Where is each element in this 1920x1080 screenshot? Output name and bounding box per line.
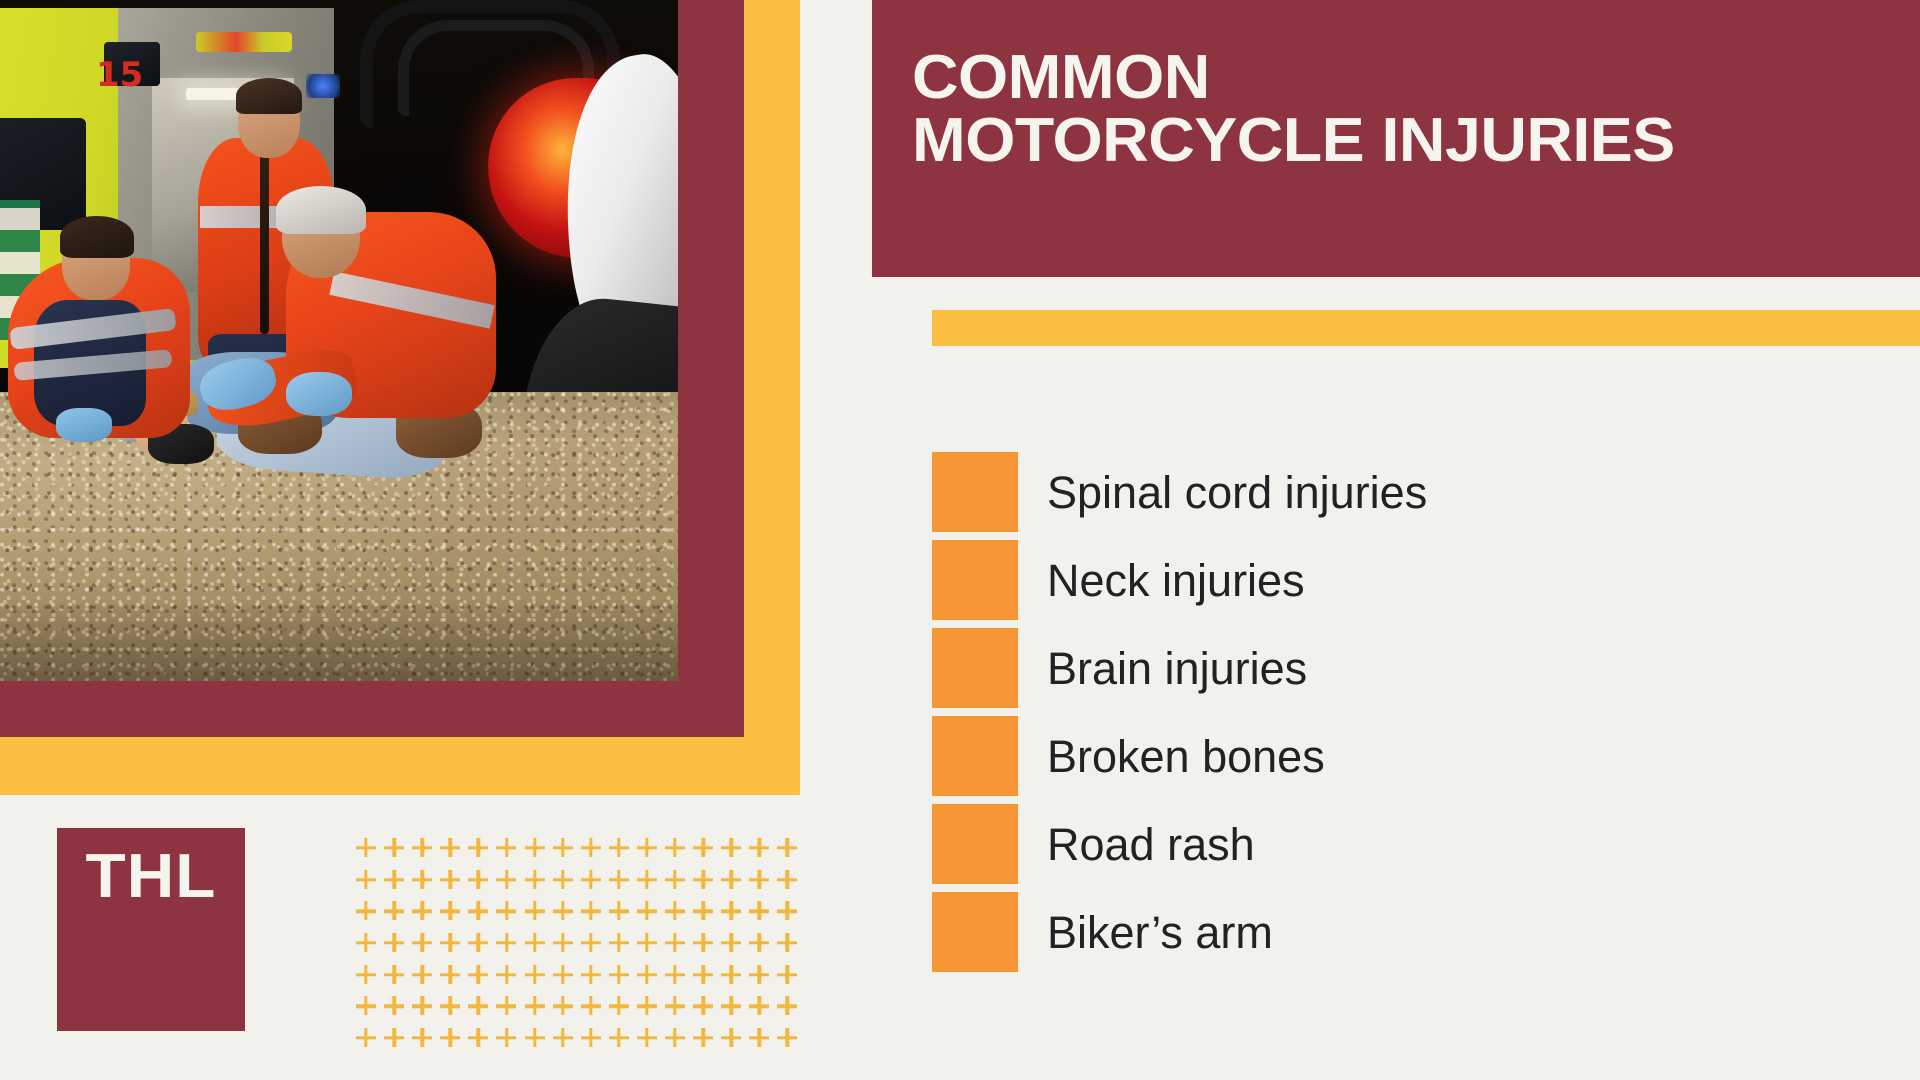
plus-icon — [521, 959, 549, 991]
plus-icon — [745, 832, 773, 864]
list-item: Spinal cord injuries — [932, 448, 1832, 536]
injury-label: Road rash — [1047, 822, 1255, 867]
list-item: Biker’s arm — [932, 888, 1832, 976]
plus-icon — [577, 959, 605, 991]
plus-icon — [352, 895, 380, 927]
plus-icon — [436, 832, 464, 864]
injury-label: Spinal cord injuries — [1047, 470, 1427, 515]
injury-label: Biker’s arm — [1047, 910, 1273, 955]
plus-icon — [717, 864, 745, 896]
list-item: Broken bones — [932, 712, 1832, 800]
photo-ambulance-blue-light — [306, 74, 340, 98]
plus-icon — [380, 959, 408, 991]
page-title: COMMON MOTORCYCLE INJURIES — [912, 46, 1920, 172]
photo-paramedic-kneeling-hair — [60, 216, 134, 258]
plus-icon — [577, 1022, 605, 1054]
plus-icon — [661, 895, 689, 927]
bullet-square-icon — [932, 540, 1018, 620]
plus-icon — [689, 895, 717, 927]
plus-icon — [380, 927, 408, 959]
plus-icon — [605, 927, 633, 959]
bullet-square-icon — [932, 716, 1018, 796]
plus-icon — [661, 927, 689, 959]
bullet-square-icon — [932, 628, 1018, 708]
plus-pattern-row — [352, 959, 802, 991]
plus-icon — [661, 1022, 689, 1054]
plus-icon — [549, 959, 577, 991]
plus-icon — [492, 990, 520, 1022]
plus-icon — [464, 895, 492, 927]
plus-icon — [408, 927, 436, 959]
plus-icon — [633, 832, 661, 864]
plus-icon — [773, 990, 801, 1022]
plus-icon — [549, 927, 577, 959]
plus-icon — [352, 864, 380, 896]
plus-icon — [689, 1022, 717, 1054]
plus-icon — [633, 990, 661, 1022]
plus-icon — [605, 864, 633, 896]
plus-icon — [577, 927, 605, 959]
injury-label: Neck injuries — [1047, 558, 1305, 603]
plus-icon — [773, 832, 801, 864]
photo-ambulance-beacon-bar — [196, 32, 292, 52]
bullet-square-icon — [932, 892, 1018, 972]
plus-icon — [436, 895, 464, 927]
bullet-square-icon — [932, 452, 1018, 532]
plus-icon — [717, 990, 745, 1022]
injury-label: Broken bones — [1047, 734, 1325, 779]
plus-pattern-row — [352, 990, 802, 1022]
plus-icon — [661, 832, 689, 864]
plus-icon — [605, 895, 633, 927]
plus-pattern-decoration — [352, 832, 802, 1054]
plus-icon — [633, 959, 661, 991]
plus-icon — [492, 927, 520, 959]
plus-icon — [633, 927, 661, 959]
plus-icon — [380, 832, 408, 864]
plus-icon — [521, 990, 549, 1022]
plus-icon — [436, 959, 464, 991]
plus-icon — [745, 927, 773, 959]
plus-icon — [661, 990, 689, 1022]
plus-icon — [549, 1022, 577, 1054]
plus-icon — [464, 990, 492, 1022]
plus-icon — [577, 864, 605, 896]
plus-icon — [717, 895, 745, 927]
plus-icon — [773, 927, 801, 959]
bullet-square-icon — [932, 804, 1018, 884]
accident-scene-photo: 15 — [0, 0, 678, 681]
plus-icon — [689, 832, 717, 864]
plus-icon — [380, 895, 408, 927]
plus-pattern-row — [352, 895, 802, 927]
photo-composition: 15 — [0, 0, 805, 800]
plus-pattern-row — [352, 1022, 802, 1054]
plus-icon — [352, 927, 380, 959]
plus-icon — [717, 959, 745, 991]
plus-icon — [577, 990, 605, 1022]
plus-icon — [352, 832, 380, 864]
plus-icon — [492, 1022, 520, 1054]
plus-icon — [661, 959, 689, 991]
photo-paramedic-senior-hair — [276, 186, 366, 234]
plus-icon — [408, 1022, 436, 1054]
plus-icon — [661, 864, 689, 896]
photo-paramedic-senior-glove-right — [286, 372, 352, 416]
plus-icon — [577, 832, 605, 864]
plus-icon — [689, 927, 717, 959]
plus-icon — [408, 832, 436, 864]
plus-icon — [745, 1022, 773, 1054]
plus-icon — [605, 1022, 633, 1054]
plus-icon — [633, 1022, 661, 1054]
plus-icon — [773, 864, 801, 896]
plus-pattern-row — [352, 927, 802, 959]
plus-icon — [436, 927, 464, 959]
plus-icon — [436, 990, 464, 1022]
injury-list: Spinal cord injuries Neck injuries Brain… — [932, 448, 1832, 976]
plus-icon — [464, 927, 492, 959]
plus-icon — [464, 832, 492, 864]
plus-icon — [464, 959, 492, 991]
plus-icon — [717, 927, 745, 959]
plus-icon — [773, 1022, 801, 1054]
plus-icon — [605, 959, 633, 991]
plus-icon — [464, 864, 492, 896]
plus-icon — [745, 959, 773, 991]
plus-icon — [436, 864, 464, 896]
plus-icon — [464, 1022, 492, 1054]
plus-icon — [521, 895, 549, 927]
plus-icon — [717, 832, 745, 864]
plus-icon — [492, 864, 520, 896]
plus-icon — [549, 832, 577, 864]
photo-paramedic-standing-zipper — [260, 152, 269, 334]
injury-label: Brain injuries — [1047, 646, 1307, 691]
plus-icon — [408, 959, 436, 991]
thl-logo-initials: THL — [51, 846, 250, 908]
photo-paramedic-kneeling-glove — [56, 408, 112, 442]
plus-icon — [521, 832, 549, 864]
plus-icon — [605, 990, 633, 1022]
plus-icon — [436, 1022, 464, 1054]
plus-icon — [605, 832, 633, 864]
plus-icon — [633, 895, 661, 927]
plus-icon — [408, 864, 436, 896]
plus-icon — [773, 895, 801, 927]
plus-icon — [549, 864, 577, 896]
plus-icon — [745, 864, 773, 896]
plus-icon — [380, 990, 408, 1022]
plus-icon — [745, 895, 773, 927]
plus-icon — [717, 1022, 745, 1054]
plus-icon — [492, 832, 520, 864]
photo-ground-shadow — [0, 600, 678, 681]
plus-icon — [689, 959, 717, 991]
plus-icon — [408, 990, 436, 1022]
plus-icon — [352, 990, 380, 1022]
plus-icon — [521, 927, 549, 959]
list-item: Neck injuries — [932, 536, 1832, 624]
title-underline-bar — [932, 310, 1920, 346]
plus-icon — [380, 1022, 408, 1054]
title-block: COMMON MOTORCYCLE INJURIES — [872, 0, 1920, 277]
photo-ambulance-marking: 15 — [96, 60, 154, 122]
plus-icon — [745, 990, 773, 1022]
list-item: Road rash — [932, 800, 1832, 888]
plus-icon — [492, 959, 520, 991]
plus-icon — [549, 990, 577, 1022]
plus-icon — [549, 895, 577, 927]
plus-icon — [689, 864, 717, 896]
plus-pattern-row — [352, 864, 802, 896]
plus-icon — [352, 1022, 380, 1054]
plus-icon — [408, 895, 436, 927]
photo-paramedic-standing-hair — [236, 78, 302, 114]
plus-icon — [492, 895, 520, 927]
plus-icon — [577, 895, 605, 927]
plus-icon — [521, 1022, 549, 1054]
plus-icon — [633, 864, 661, 896]
plus-icon — [689, 990, 717, 1022]
plus-icon — [352, 959, 380, 991]
list-item: Brain injuries — [932, 624, 1832, 712]
plus-icon — [380, 864, 408, 896]
thl-logo: THL — [57, 828, 245, 1031]
plus-pattern-row — [352, 832, 802, 864]
plus-icon — [521, 864, 549, 896]
plus-icon — [773, 959, 801, 991]
